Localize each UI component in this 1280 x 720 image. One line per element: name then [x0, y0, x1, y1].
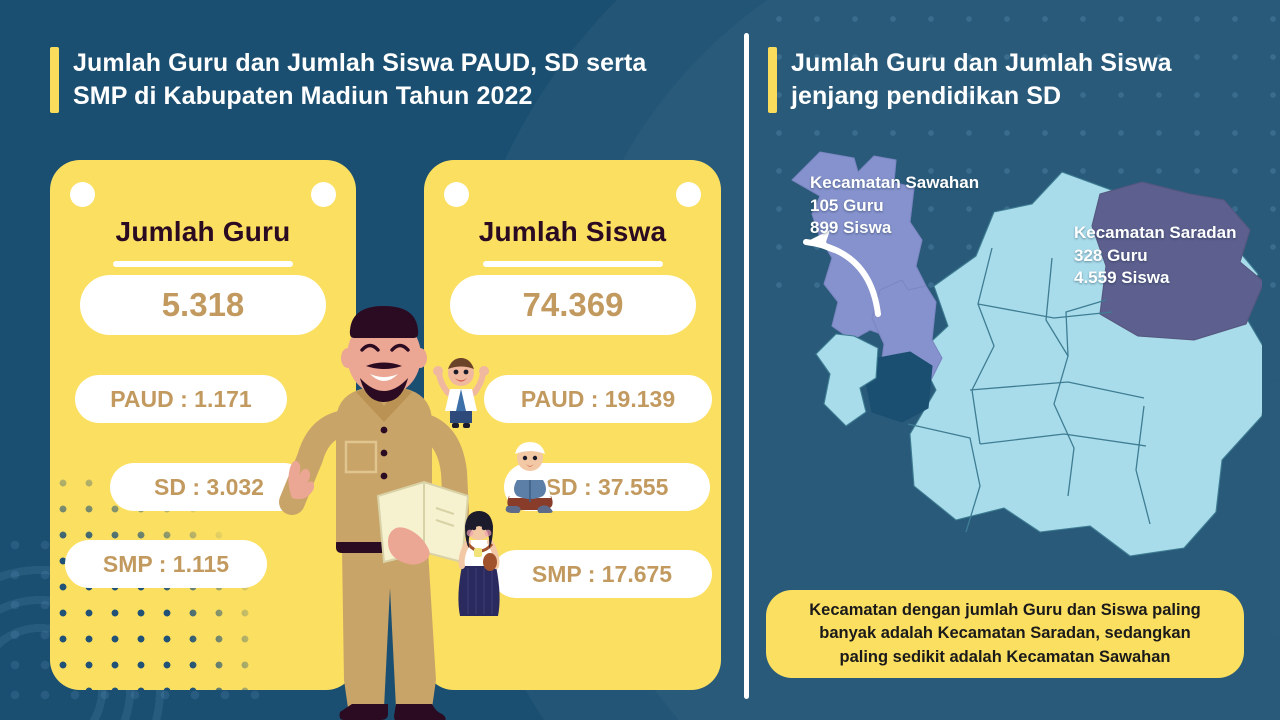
map-section-title: Jumlah Guru dan Jumlah Siswa jenjang pen… [791, 47, 1172, 113]
page-title: Jumlah Guru dan Jumlah Siswa PAUD, SD se… [73, 47, 646, 113]
siswa-sd-value: SD : 37.555 [504, 463, 710, 511]
punch-hole-left-icon [444, 182, 469, 207]
punch-hole-right-icon [311, 182, 336, 207]
card-title-siswa: Jumlah Siswa [424, 216, 721, 248]
map-footnote-caption: Kecamatan dengan jumlah Guru dan Siswa p… [766, 590, 1244, 678]
stat-card-siswa: Jumlah Siswa 74.369 PAUD : 19.139 SD : 3… [424, 160, 721, 690]
right-section-header: Jumlah Guru dan Jumlah Siswa jenjang pen… [768, 47, 1238, 113]
vertical-divider [744, 33, 749, 699]
map-callout-saradan: Kecamatan Saradan 328 Guru 4.559 Siswa [1074, 222, 1237, 290]
header-accent-bar [50, 47, 59, 113]
guru-paud-value: PAUD : 1.171 [75, 375, 287, 423]
punch-hole-right-icon [676, 182, 701, 207]
guru-total-value: 5.318 [80, 275, 326, 335]
card-title-underline [483, 261, 663, 267]
map-region-west [816, 334, 878, 426]
map-callout-sawahan: Kecamatan Sawahan 105 Guru 899 Siswa [810, 172, 979, 240]
siswa-total-value: 74.369 [450, 275, 696, 335]
stat-card-guru: Jumlah Guru 5.318 PAUD : 1.171 SD : 3.03… [50, 160, 356, 690]
header-accent-bar [768, 47, 777, 113]
card-title-guru: Jumlah Guru [50, 216, 356, 248]
left-section-header: Jumlah Guru dan Jumlah Siswa PAUD, SD se… [50, 47, 710, 113]
guru-sd-value: SD : 3.032 [110, 463, 308, 511]
punch-hole-left-icon [70, 182, 95, 207]
siswa-paud-value: PAUD : 19.139 [484, 375, 712, 423]
siswa-smp-value: SMP : 17.675 [492, 550, 712, 598]
guru-smp-value: SMP : 1.115 [65, 540, 267, 588]
card-title-underline [113, 261, 293, 267]
